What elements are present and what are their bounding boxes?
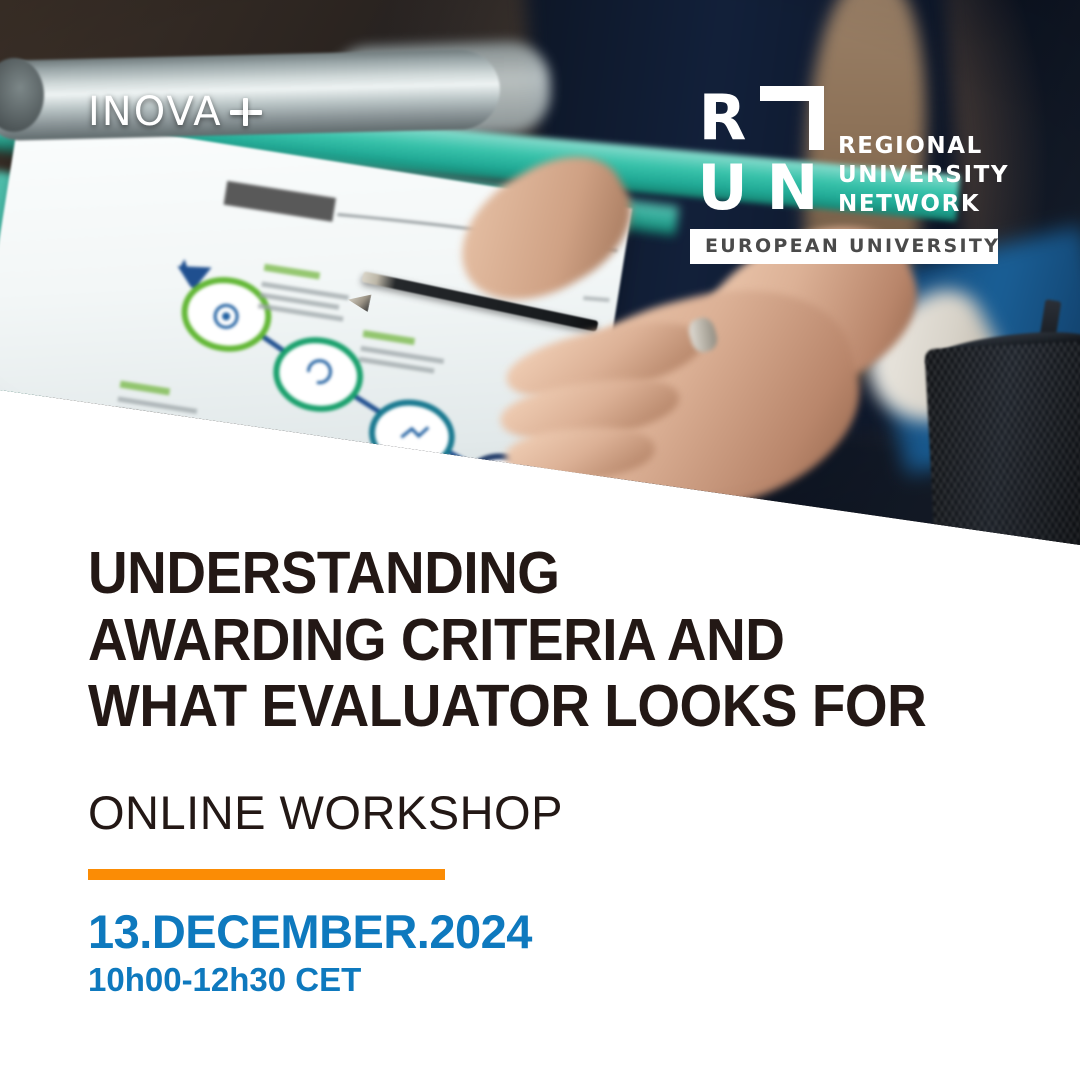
poster-root: INOVA R U N REGIONAL UNIVERSITY NETWORK … [0,0,1080,1080]
orange-divider-rule [88,869,445,880]
headline-line-1: UNDERSTANDING [88,540,962,607]
event-date: 13.DECEMBER.2024 [88,908,532,955]
event-time: 10h00-12h30 CET [88,963,361,996]
headline-line-2: AWARDING CRITERIA AND [88,607,962,674]
event-format-subtitle: ONLINE WORKSHOP [88,789,563,836]
content-area: UNDERSTANDING AWARDING CRITERIA AND WHAT… [0,0,1080,1080]
page-title: UNDERSTANDING AWARDING CRITERIA AND WHAT… [88,540,962,740]
headline-line-3: WHAT EVALUATOR LOOKS FOR [88,673,962,740]
